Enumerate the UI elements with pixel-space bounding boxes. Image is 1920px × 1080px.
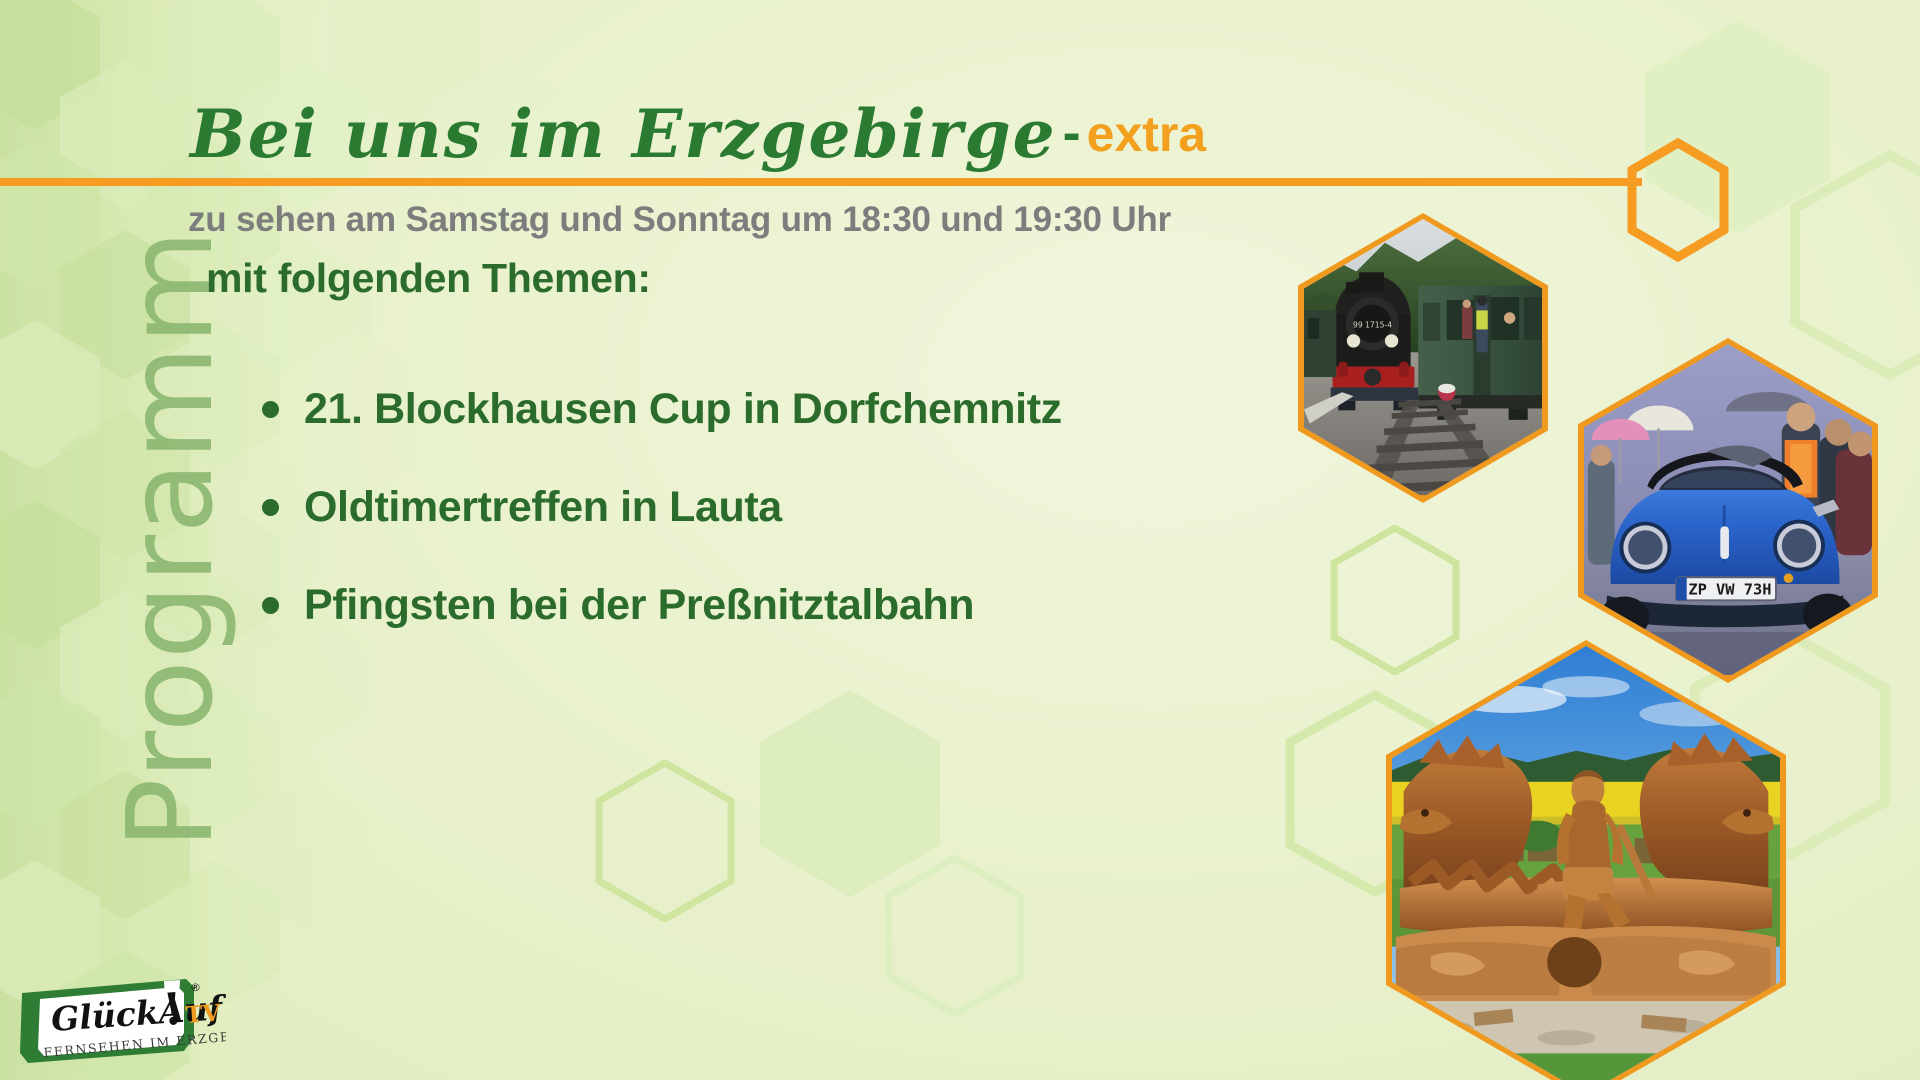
steam-train-hexagon-photo: 99 1715-4 bbox=[1298, 213, 1548, 503]
bg-hexagon bbox=[0, 140, 100, 290]
slide-canvas: Programm Bei uns im Erzgebirge-extra zu … bbox=[0, 0, 1920, 1080]
logo-exclamation: ! bbox=[161, 984, 184, 1036]
page-title-extra: extra bbox=[1087, 106, 1207, 162]
topic-list: 21. Blockhausen Cup in Dorfchemnitz Oldt… bbox=[262, 385, 1062, 679]
bullet-dot-icon bbox=[262, 597, 279, 614]
bg-hexagon bbox=[0, 500, 100, 650]
bullet-dot-icon bbox=[262, 499, 279, 516]
list-item: Pfingsten bei der Preßnitztalbahn bbox=[262, 581, 1062, 630]
page-title-script: Bei uns im Erzgebirge bbox=[190, 95, 1057, 173]
broadcast-times-subtitle: zu sehen am Samstag und Sonntag um 18:30… bbox=[188, 200, 1171, 240]
page-title-dash: - bbox=[1057, 103, 1087, 163]
logo-registered-icon: ® bbox=[190, 981, 201, 994]
list-item-label: Oldtimertreffen in Lauta bbox=[304, 483, 782, 532]
bg-hexagon-outline bbox=[885, 855, 1025, 1017]
svg-text:ZP VW 73H: ZP VW 73H bbox=[1688, 581, 1771, 599]
list-item-label: Pfingsten bei der Preßnitztalbahn bbox=[304, 581, 974, 630]
list-item: 21. Blockhausen Cup in Dorfchemnitz bbox=[262, 385, 1062, 434]
bg-hexagon bbox=[760, 690, 940, 897]
bg-hexagon bbox=[240, 780, 370, 930]
bg-hexagon bbox=[0, 320, 100, 470]
hexagon-photo-clip: 99 1715-4 bbox=[1304, 219, 1542, 497]
list-item: Oldtimertreffen in Lauta bbox=[262, 483, 1062, 532]
bullet-dot-icon bbox=[262, 401, 279, 418]
glueckauf-tv-logo[interactable]: GlückAuf ! ® TV FERNSEHEN IM ERZGEBIRGE bbox=[18, 975, 226, 1067]
hexagon-photo-clip bbox=[1392, 646, 1780, 1080]
vw-beetle-illustration: ZP VW 73H bbox=[1584, 344, 1872, 675]
orange-divider-rule bbox=[0, 178, 1642, 186]
hexagon-photo-clip: ZP VW 73H bbox=[1584, 344, 1872, 677]
section-intro-heading: mit folgenden Themen: bbox=[206, 255, 651, 302]
vw-beetle-hexagon-photo: ZP VW 73H bbox=[1578, 338, 1878, 683]
orange-hexagon-accent-icon bbox=[1624, 138, 1732, 267]
wood-sculpture-hexagon-photo bbox=[1386, 640, 1786, 1080]
list-item-label: 21. Blockhausen Cup in Dorfchemnitz bbox=[304, 385, 1062, 434]
page-title: Bei uns im Erzgebirge-extra bbox=[190, 95, 1206, 173]
logo-artwork: GlückAuf ! ® TV FERNSEHEN IM ERZGEBIRGE bbox=[18, 975, 226, 1067]
bg-hexagon bbox=[0, 0, 100, 130]
svg-text:99 1715-4: 99 1715-4 bbox=[1353, 321, 1392, 330]
wood-sculpture-illustration bbox=[1392, 646, 1780, 1080]
bg-hexagon-outline bbox=[595, 760, 735, 922]
logo-tv-mark: TV bbox=[185, 1000, 223, 1029]
bg-hexagon bbox=[0, 680, 100, 830]
